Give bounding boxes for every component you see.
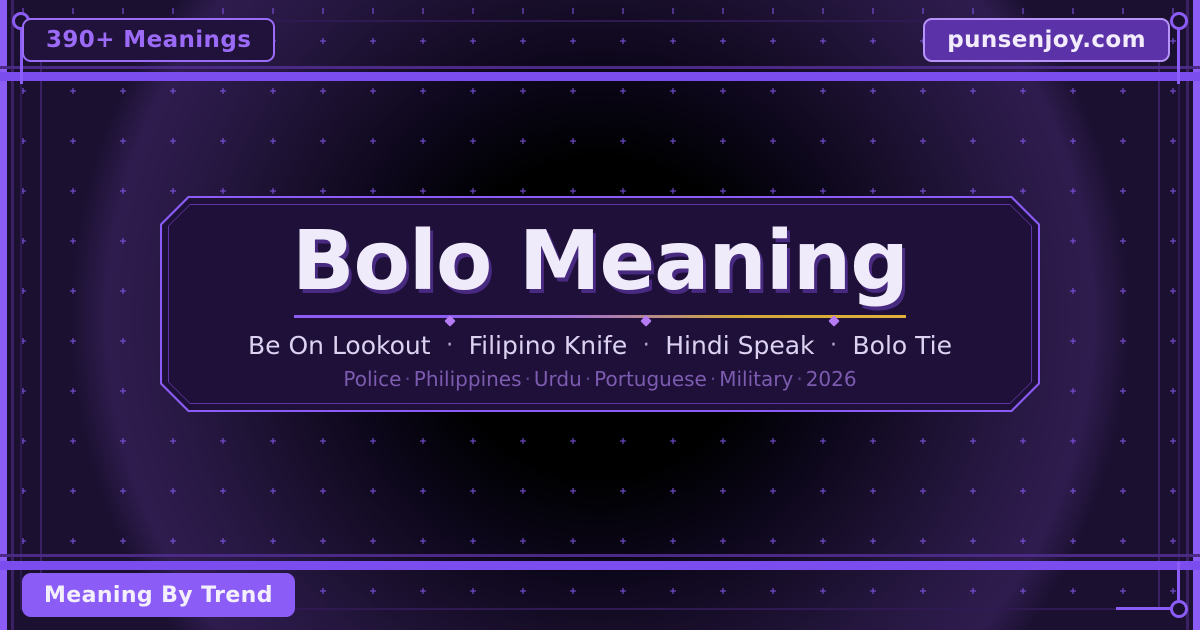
divider-top-thin [0, 66, 1200, 69]
meanings-count-label: 390+ Meanings [46, 27, 251, 53]
meaning-separator-diamond-icon: · [629, 333, 663, 358]
tag-item: Philippines [414, 367, 522, 391]
tag-separator: · [707, 367, 719, 391]
frame-thin-left-2 [40, 20, 42, 610]
tags-list: Police·Philippines·Urdu·Portuguese·Milit… [343, 367, 856, 391]
frame-thin-right-2 [1158, 20, 1160, 610]
meaning-item: Hindi Speak [663, 331, 816, 360]
site-url-label: punsenjoy.com [947, 27, 1146, 53]
card-content: Bolo Meaning Be On Lookout·Filipino Knif… [160, 196, 1040, 412]
meaning-item: Be On Lookout [246, 331, 433, 360]
tag-separator: · [582, 367, 594, 391]
meaning-item: Bolo Tie [851, 331, 954, 360]
tag-item: Portuguese [594, 367, 707, 391]
meaning-by-trend-badge[interactable]: Meaning By Trend [22, 573, 295, 617]
corner-stem-bottom-right-horizontal [1116, 607, 1172, 610]
frame-thin-right-1 [1186, 0, 1189, 630]
corner-node-bottom-right-icon [1170, 600, 1188, 618]
tag-item: Police [343, 367, 401, 391]
tag-separator: · [522, 367, 534, 391]
title-divider [294, 315, 906, 318]
frame-rail-left [0, 0, 7, 630]
meanings-list: Be On Lookout·Filipino Knife·Hindi Speak… [246, 331, 954, 360]
tag-separator: · [793, 367, 805, 391]
banner-canvas: 390+ Meanings punsenjoy.com Meaning By T… [0, 0, 1200, 630]
meanings-count-badge: 390+ Meanings [22, 18, 275, 62]
frame-thin-left-1 [11, 0, 14, 630]
divider-bottom-thin [0, 554, 1200, 557]
meaning-separator-diamond-icon: · [817, 333, 851, 358]
tag-item: Military [719, 367, 793, 391]
divider-bottom-main [0, 561, 1200, 570]
meaning-by-trend-label: Meaning By Trend [44, 583, 273, 608]
corner-node-top-right-icon [1170, 12, 1188, 30]
corner-stem-bottom-right [1177, 562, 1180, 602]
page-title: Bolo Meaning [292, 221, 908, 303]
tag-separator: · [401, 367, 413, 391]
site-url-badge[interactable]: punsenjoy.com [923, 18, 1170, 62]
corner-stem-top-right [1177, 28, 1180, 84]
tag-item: 2026 [806, 367, 857, 391]
divider-top-main [0, 72, 1200, 81]
meaning-item: Filipino Knife [467, 331, 630, 360]
tag-item: Urdu [534, 367, 582, 391]
frame-rail-right [1193, 0, 1200, 630]
meaning-separator-diamond-icon: · [433, 333, 467, 358]
title-card: Bolo Meaning Be On Lookout·Filipino Knif… [160, 196, 1040, 412]
